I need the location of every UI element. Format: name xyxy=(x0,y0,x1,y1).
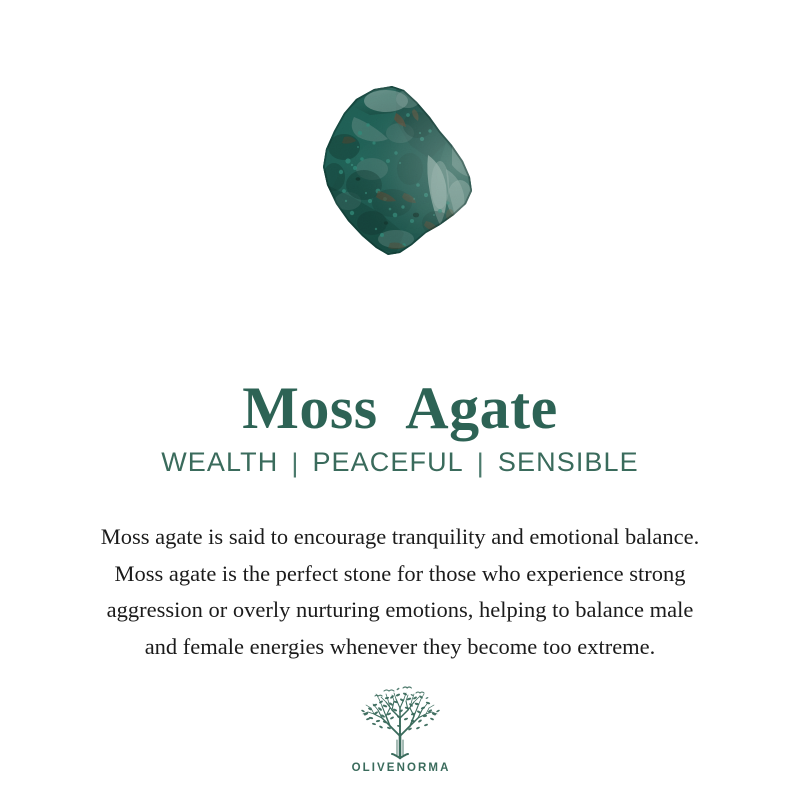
keyword-wealth: WEALTH xyxy=(161,447,278,477)
keyword-separator: | xyxy=(464,444,498,482)
keyword-separator: | xyxy=(278,444,312,482)
description-text: Moss agate is said to encourage tranquil… xyxy=(40,519,760,665)
brand-logo: OLIVENORMA xyxy=(0,684,800,774)
stone-image-container xyxy=(0,70,800,275)
keyword-list: WEALTH|PEACEFUL|SENSIBLE xyxy=(0,443,800,481)
olive-tree-icon xyxy=(354,684,446,760)
brand-name: OLIVENORMA xyxy=(349,762,450,774)
page-title: Moss Agate xyxy=(0,372,800,444)
description-line: and female energies whenever they become… xyxy=(40,629,760,666)
keyword-peaceful: PEACEFUL xyxy=(312,447,463,477)
product-info-card: Moss Agate WEALTH|PEACEFUL|SENSIBLE Moss… xyxy=(0,0,800,800)
keyword-sensible: SENSIBLE xyxy=(498,447,639,477)
moss-agate-stone xyxy=(300,73,500,273)
description-line: Moss agate is the perfect stone for thos… xyxy=(40,556,760,593)
description-line: aggression or overly nurturing emotions,… xyxy=(40,592,760,629)
description-line: Moss agate is said to encourage tranquil… xyxy=(40,519,760,556)
